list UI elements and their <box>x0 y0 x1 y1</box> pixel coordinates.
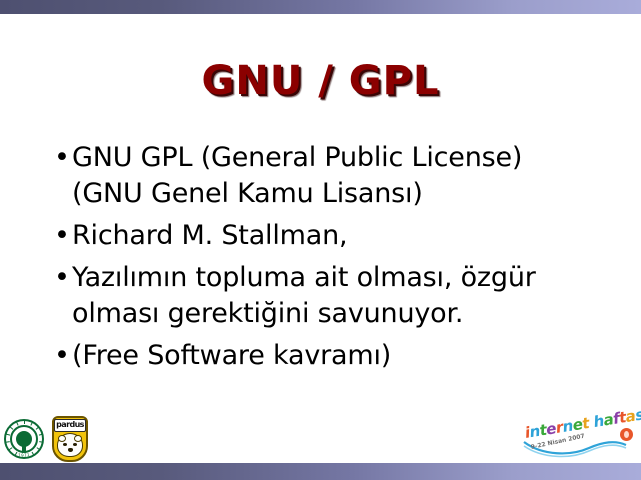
bullet-text: (Free Software kavramı) <box>72 338 610 374</box>
list-item: • (Free Software kavramı) <box>50 338 610 374</box>
pardus-eye-right <box>73 443 77 446</box>
bullet-marker-icon: • <box>50 140 72 176</box>
slide-title: GNU / GPL <box>0 58 641 104</box>
bullet-marker-icon: • <box>50 260 72 296</box>
seal-emblem-glyph <box>16 431 32 447</box>
pardus-wordmark: pardus <box>54 419 86 432</box>
pardus-ear-right <box>74 435 82 442</box>
bullet-line-1: Richard M. Stallman, <box>72 220 347 251</box>
bullet-text: Richard M. Stallman, <box>72 218 610 254</box>
list-item: • Richard M. Stallman, <box>50 218 610 254</box>
bottom-gradient-bar <box>0 463 641 480</box>
pardus-logo-icon: pardus <box>52 416 88 462</box>
internet-haftasi-dot-icon <box>620 428 633 441</box>
top-gradient-bar <box>0 0 641 14</box>
bullet-line-1: (Free Software kavramı) <box>72 340 391 371</box>
internet-haftasi-logo-icon: internet haftası 9-22 Nisan 2007 <box>523 416 635 462</box>
bullet-line-1: Yazılımın topluma ait olması, özgür <box>72 262 536 293</box>
footer-logos-left: 1973 pardus <box>4 416 88 462</box>
bullet-marker-icon: • <box>50 338 72 374</box>
pardus-leopard-face-icon <box>57 433 83 457</box>
bullet-list: • GNU GPL (General Public License) (GNU … <box>50 140 610 380</box>
seal-year-label: 1973 <box>4 453 44 458</box>
university-seal-icon: 1973 <box>4 419 44 459</box>
bullet-line-1: GNU GPL (General Public License) <box>72 142 522 173</box>
bullet-text: GNU GPL (General Public License) (GNU Ge… <box>72 140 610 212</box>
presentation-slide: GNU / GPL • GNU GPL (General Public Lice… <box>0 0 641 480</box>
bullet-marker-icon: • <box>50 218 72 254</box>
pardus-nose <box>68 448 73 452</box>
bullet-text: Yazılımın topluma ait olması, özgür olma… <box>72 260 610 332</box>
bullet-line-2: (GNU Genel Kamu Lisansı) <box>72 176 610 212</box>
pardus-eye-left <box>63 443 67 446</box>
list-item: • Yazılımın topluma ait olması, özgür ol… <box>50 260 610 332</box>
list-item: • GNU GPL (General Public License) (GNU … <box>50 140 610 212</box>
pardus-ear-left <box>58 435 66 442</box>
bullet-line-2: olması gerektiğini savunuyor. <box>72 296 610 332</box>
